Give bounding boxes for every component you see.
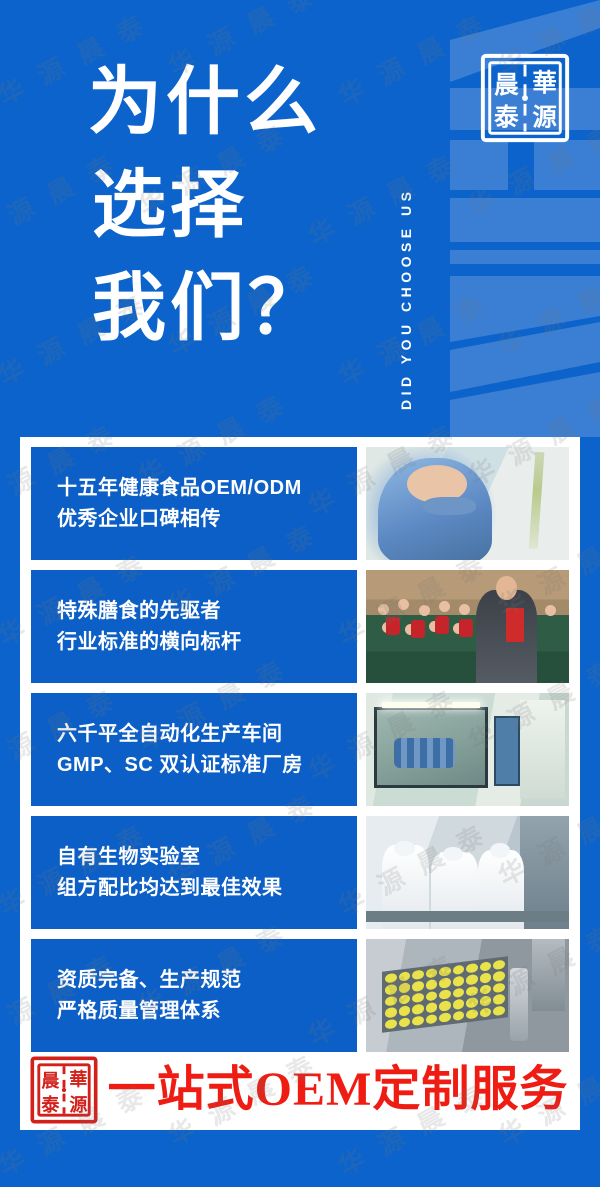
list-item[interactable]: 十五年健康食品OEM/ODM 优秀企业口碑相传 (31, 447, 569, 560)
feature-text-3: 六千平全自动化生产车间 GMP、SC 双认证标准厂房 (31, 693, 357, 806)
svg-text:華: 華 (532, 69, 557, 97)
svg-text:泰: 泰 (494, 103, 519, 131)
list-item[interactable]: 自有生物实验室 组方配比均达到最佳效果 (31, 816, 569, 929)
feature-5-line-1: 资质完备、生产规范 (57, 965, 357, 996)
features-list: 十五年健康食品OEM/ODM 优秀企业口碑相传 特殊膳食的先驱者 行业标准的横向… (31, 447, 569, 1052)
feature-3-line-2: GMP、SC 双认证标准厂房 (57, 750, 357, 781)
list-item[interactable]: 特殊膳食的先驱者 行业标准的横向标杆 (31, 570, 569, 683)
feature-image-3 (366, 693, 569, 806)
features-card: 十五年健康食品OEM/ODM 优秀企业口碑相传 特殊膳食的先驱者 行业标准的横向… (20, 437, 580, 1130)
vertical-eyebrow-text: DID YOU CHOOSE US (398, 20, 424, 410)
title-line-1: 为什么 (88, 52, 388, 155)
feature-text-1: 十五年健康食品OEM/ODM 优秀企业口碑相传 (31, 447, 357, 560)
cta-banner-text: 一站式OEM定制服务 (100, 1066, 580, 1114)
company-seal-icon: 晨 華 泰 源 (476, 48, 574, 148)
header-section: 为什么 选择 我们？ DID YOU CHOOSE US 晨 華 泰 源 (0, 0, 600, 437)
list-item[interactable]: 资质完备、生产规范 严格质量管理体系 (31, 939, 569, 1052)
feature-image-2 (366, 570, 569, 683)
feature-2-line-2: 行业标准的横向标杆 (57, 627, 357, 658)
feature-5-line-2: 严格质量管理体系 (57, 996, 357, 1027)
feature-image-1 (366, 447, 569, 560)
cta-banner[interactable]: 晨 華 泰 源 一站式OEM定制服务 (20, 1050, 580, 1130)
svg-text:華: 華 (69, 1069, 87, 1090)
title-line-2: 选择 (88, 155, 388, 258)
feature-2-line-1: 特殊膳食的先驱者 (57, 596, 357, 627)
page-title: 为什么 选择 我们？ (88, 52, 388, 361)
svg-text:源: 源 (69, 1094, 87, 1115)
svg-text:泰: 泰 (40, 1094, 60, 1115)
feature-text-4: 自有生物实验室 组方配比均达到最佳效果 (31, 816, 357, 929)
svg-text:晨: 晨 (494, 72, 519, 99)
list-item[interactable]: 六千平全自动化生产车间 GMP、SC 双认证标准厂房 (31, 693, 569, 806)
poster-root: 为什么 选择 我们？ DID YOU CHOOSE US 晨 華 泰 源 (0, 0, 600, 1187)
feature-text-5: 资质完备、生产规范 严格质量管理体系 (31, 939, 357, 1052)
feature-text-2: 特殊膳食的先驱者 行业标准的横向标杆 (31, 570, 357, 683)
svg-text:晨: 晨 (41, 1071, 60, 1091)
title-line-3: 我们？ (88, 258, 388, 361)
feature-image-4 (366, 816, 569, 929)
company-seal-red-icon: 晨 華 泰 源 (28, 1054, 100, 1126)
feature-3-line-1: 六千平全自动化生产车间 (57, 719, 357, 750)
feature-image-5 (366, 939, 569, 1052)
feature-1-line-1: 十五年健康食品OEM/ODM (57, 473, 357, 504)
feature-1-line-2: 优秀企业口碑相传 (57, 504, 357, 535)
feature-4-line-1: 自有生物实验室 (57, 842, 357, 873)
feature-4-line-2: 组方配比均达到最佳效果 (57, 873, 357, 904)
svg-text:源: 源 (532, 103, 557, 131)
